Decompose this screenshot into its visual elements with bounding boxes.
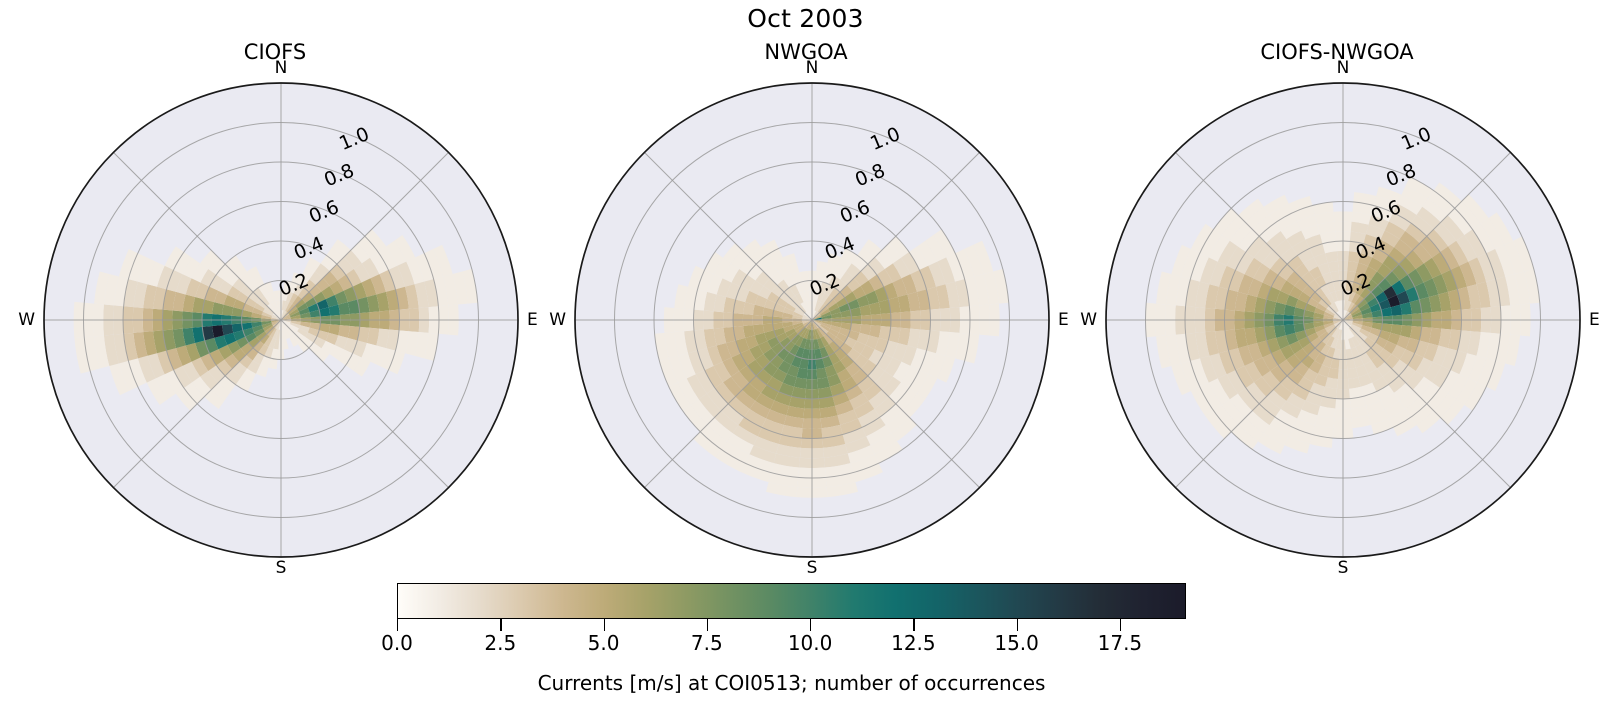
direction-label-east: E [1589,310,1611,330]
panel-ciofs: CIOFS 0.20.40.60.81.0 N S W E [5,70,545,570]
direction-label-south: S [41,558,521,578]
colorbar-ticks: 0.02.55.07.510.012.515.017.5 [397,619,1186,631]
panel-nwgoa: NWGOA 0.20.40.60.81.0 N S W E [536,70,1076,570]
polar-rose-ciofs-nwgoa: 0.20.40.60.81.0 [1103,80,1583,560]
colorbar-tick [913,619,914,631]
colorbar-tick-label: 10.0 [788,631,833,655]
polar-rose-ciofs: 0.20.40.60.81.0 [41,80,521,560]
polar-grid [44,83,518,557]
colorbar-tick-label: 2.5 [484,631,516,655]
figure-root: Oct 2003 CIOFS 0.20.40.60.81.0 N S W E N… [0,0,1611,724]
direction-label-north: N [572,58,1052,78]
direction-label-west: W [1067,310,1097,330]
colorbar-tick [500,619,501,631]
direction-label-north: N [1103,58,1583,78]
polar-axes-ciofs: 0.20.40.60.81.0 N S W E [41,80,521,560]
colorbar-tick-label: 5.0 [588,631,620,655]
polar-rose-nwgoa: 0.20.40.60.81.0 [572,80,1052,560]
polar-grid [1106,83,1580,557]
direction-label-south: S [1103,558,1583,578]
colorbar-tick-label: 7.5 [691,631,723,655]
colorbar-caption: Currents [m/s] at COI0513; number of occ… [397,671,1186,695]
polar-axes-nwgoa: 0.20.40.60.81.0 N S W E [572,80,1052,560]
colorbar-tick [1120,619,1121,631]
direction-label-north: N [41,58,521,78]
direction-label-west: W [536,310,566,330]
colorbar-gradient [397,583,1186,619]
direction-label-west: W [5,310,35,330]
colorbar-tick [1017,619,1018,631]
colorbar-tick [707,619,708,631]
colorbar-tick [397,619,398,631]
panel-ciofs-nwgoa: CIOFS-NWGOA 0.20.40.60.81.0 N S W E [1067,70,1607,570]
colorbar-tick-label: 12.5 [891,631,936,655]
colorbar-tick-label: 17.5 [1098,631,1143,655]
figure-suptitle: Oct 2003 [0,4,1611,34]
colorbar-tick-label: 15.0 [994,631,1039,655]
polar-grid [575,83,1049,557]
colorbar-tick [604,619,605,631]
colorbar-block: 0.02.55.07.510.012.515.017.5 Currents [m… [397,583,1186,619]
direction-label-south: S [572,558,1052,578]
colorbar-tick-label: 0.0 [381,631,413,655]
polar-axes-ciofs-nwgoa: 0.20.40.60.81.0 N S W E [1103,80,1583,560]
colorbar-tick [810,619,811,631]
